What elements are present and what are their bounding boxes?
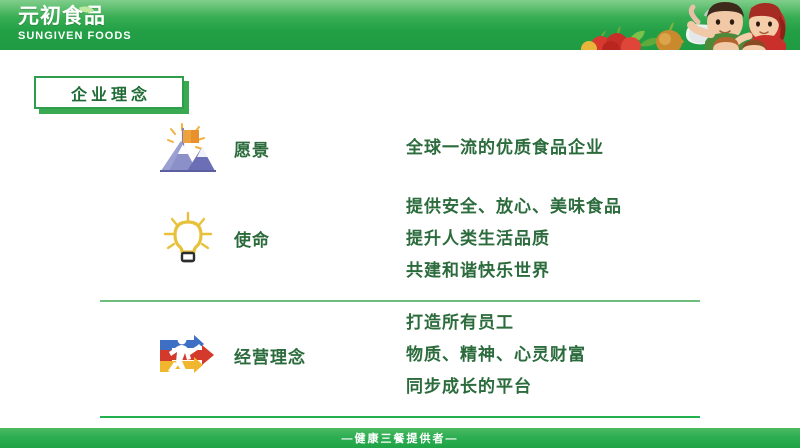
section-title-face: 企业理念 bbox=[34, 76, 184, 109]
row-line: 提供安全、放心、美味食品 bbox=[406, 191, 800, 223]
brand-logo-en: SUNGIVEN FOODS bbox=[18, 29, 148, 43]
footer-slogan: —健康三餐提供者— bbox=[342, 430, 459, 446]
row-line: 打造所有员工 bbox=[406, 307, 800, 339]
row-lines-mission: 提供安全、放心、美味食品 提升人类生活品质 共建和谐快乐世界 bbox=[406, 191, 800, 287]
row-line: 全球一流的优质食品企业 bbox=[406, 132, 800, 164]
row-divider bbox=[100, 416, 700, 418]
philosophy-rows: 愿景 全球一流的优质食品企业 使命 bbox=[0, 115, 800, 414]
row-mission: 使命 提供安全、放心、美味食品 提升人类生活品质 共建和谐快乐世界 bbox=[0, 181, 800, 296]
family-cooking-vegetables-illustration bbox=[565, 0, 800, 50]
row-line: 共建和谐快乐世界 bbox=[406, 255, 800, 287]
row-vision: 愿景 全球一流的优质食品企业 bbox=[0, 115, 800, 181]
row-line: 物质、精神、心灵财富 bbox=[406, 339, 800, 371]
row-label-business-philosophy: 经营理念 bbox=[226, 343, 406, 368]
row-lines-vision: 全球一流的优质食品企业 bbox=[406, 132, 800, 164]
page-footer: —健康三餐提供者— bbox=[0, 428, 800, 448]
brand-logo: 元初食品 SUNGIVEN FOODS bbox=[18, 6, 148, 44]
row-line: 提升人类生活品质 bbox=[406, 223, 800, 255]
lightbulb-icon bbox=[150, 209, 226, 269]
mountain-flag-icon bbox=[150, 121, 226, 175]
row-label-vision: 愿景 bbox=[226, 136, 406, 161]
row-line: 同步成长的平台 bbox=[406, 371, 800, 403]
row-business-philosophy: 经营理念 打造所有员工 物质、精神、心灵财富 同步成长的平台 bbox=[0, 296, 800, 414]
page-title: 企业理念 bbox=[67, 81, 151, 105]
row-label-mission: 使命 bbox=[226, 226, 406, 251]
section-title-box: 企业理念 bbox=[34, 76, 184, 109]
page-header: 元初食品 SUNGIVEN FOODS bbox=[0, 0, 800, 50]
running-person-arrows-icon bbox=[150, 330, 226, 380]
row-lines-business-philosophy: 打造所有员工 物质、精神、心灵财富 同步成长的平台 bbox=[406, 307, 800, 403]
